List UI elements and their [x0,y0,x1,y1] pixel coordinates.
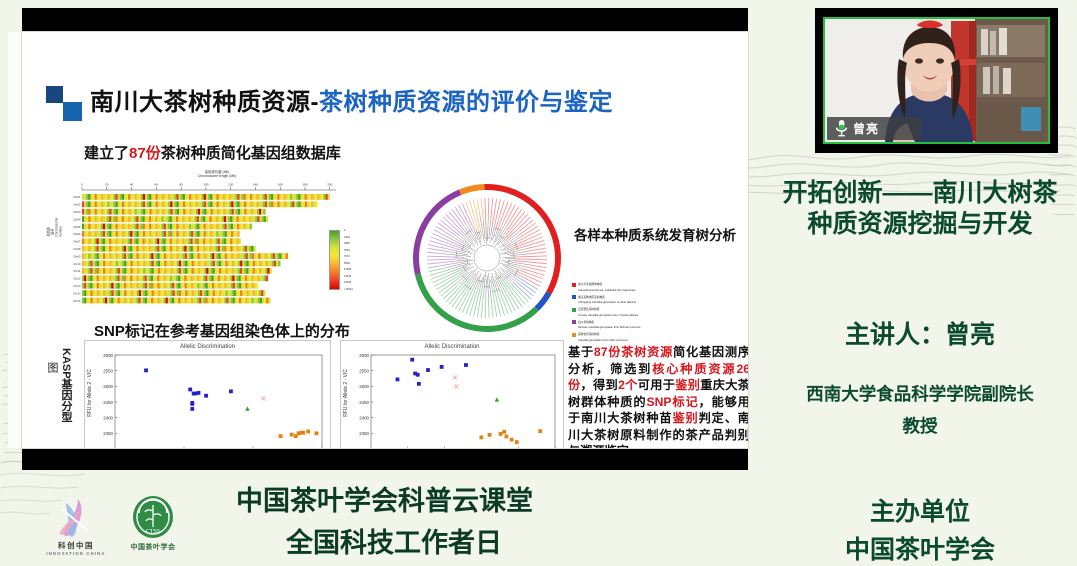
scatter1-ylabel: RFU for Allele 2 - VIC [87,369,93,417]
svg-text:2450: 2450 [359,400,369,405]
svg-text:60: 60 [155,183,159,187]
logo1-en: INNOVATION CHINA [38,551,114,556]
figure-label-en: KASP基因分型 [58,348,74,423]
svg-text:2450: 2450 [103,400,113,405]
svg-text:2500: 2500 [103,384,113,389]
presentation-slide[interactable]: 南川大茶树种质资源-茶树种质资源的评价与鉴定 建立了87份茶树种质简化基因组数据… [8,8,748,473]
event-title-line2: 全国科技工作者日 [286,521,502,560]
svg-text:Chr09: Chr09 [73,254,81,258]
tree-legend-swatch [572,320,576,324]
video-tile[interactable]: 曾亮 [815,8,1058,153]
snp-distribution-caption: SNP标记在参考基因组染色体上的分布 [94,320,350,341]
svg-text:Chr13: Chr13 [73,284,81,288]
svg-text:Chr11: Chr11 [73,269,81,273]
allelic-discrimination-plot-1: Allelic Discrimination RFU for Allele 2 … [84,340,331,448]
ctss-logo: CTSS 中国茶叶学会 [118,495,188,552]
svg-text:2350: 2350 [359,431,369,436]
svg-text:2550: 2550 [359,368,369,373]
svg-text:2600: 2600 [359,353,369,358]
subhead-suffix: 茶树种质简化基因组数据库 [161,145,341,162]
svg-text:Chr08: Chr08 [73,247,81,251]
talk-title: 开拓创新——南川大树茶种质资源挖掘与开发 [772,178,1068,240]
slide-letterbox-top [22,8,748,32]
svg-text:2300: 2300 [103,447,113,448]
svg-text:80: 80 [179,183,183,187]
title-bullet-square-dark [46,86,63,103]
speaker-affiliation: 西南大学食品科学学院副院长 教授 [772,378,1068,442]
affiliation-line2: 教授 [903,416,938,436]
chromosome-density-heatmap: 染色体长度 (Mb)Chromosome length (Mb) 染色体编号Ch… [52,172,342,320]
svg-text:2400: 2400 [103,415,113,420]
tree-legend-item: 重庆其他地区茶树种质Chongqing Camellia germplasm o… [572,295,692,306]
svg-text:40: 40 [130,183,134,187]
slide-body-text: 基于87份茶树资源简化基因测序分析，筛选到核心种质资源26份，得到2个可用于鉴别… [568,344,748,448]
svg-text:Chr12: Chr12 [73,277,81,281]
logo2-cn: 中国茶叶学会 [118,542,188,552]
svg-text:2550: 2550 [103,368,113,373]
svg-text:200: 200 [327,183,332,187]
heatmap-x-axis-title: 染色体长度 (Mb)Chromosome length (Mb) [142,170,292,179]
event-banner: 中国茶叶学会科普云课堂 全国科技工作者日 科创中国 INNOVATION CHI… [0,475,752,565]
svg-text:20: 20 [105,183,109,187]
tree-legend-swatch [572,333,576,337]
circular-phylogenetic-tree [407,178,567,338]
title-bullet-square-light [63,102,82,121]
svg-text:2350: 2350 [103,431,113,436]
allelic-discrimination-plot-2: Allelic Discrimination RFU for Allele 2 … [340,340,564,448]
svg-text:Chr14: Chr14 [73,291,81,295]
svg-text:140: 140 [253,183,258,187]
phylo-tree-legend: 南川大茶树群体种质Camellia sinensis var. pubilimb… [572,282,692,345]
tree-legend-label: 云南野生茶树种质Yunnan Camellia germplasm from Y… [578,307,638,318]
microphone-icon [835,119,848,138]
tree-legend-swatch [572,308,576,312]
svg-text:160: 160 [278,183,283,187]
tree-legend-item: 南川大茶树群体种质Camellia sinensis var. pubilimb… [572,282,692,293]
slide-left-strip [8,32,22,448]
svg-text:Chr15: Chr15 [73,299,81,303]
tree-legend-item: 四川茶树种质Sichuan Camellia germplasm from Si… [572,320,692,331]
svg-text:2400: 2400 [359,415,369,420]
svg-text:2500: 2500 [359,384,369,389]
tree-legend-label: 重庆其他地区茶树种质Chongqing Camellia germplasm o… [578,295,636,306]
subhead-prefix: 建立了 [84,145,129,162]
scatter1-title: Allelic Discrimination [85,344,330,350]
heatmap-colorbar-labels: 019183836575476729590115081342615344>153… [344,228,364,293]
svg-text:Chr07: Chr07 [73,240,81,244]
svg-text:120: 120 [228,183,233,187]
svg-text:Chr01: Chr01 [73,195,81,199]
participant-name-pill: 曾亮 [827,117,921,140]
speaker-name: 主讲人：曾亮 [772,315,1068,351]
tree-legend-label: 其他省份茶树种质Camellia germplasm from other pr… [578,332,628,343]
svg-text:2300: 2300 [359,447,369,448]
tree-legend-item: 云南野生茶树种质Yunnan Camellia germplasm from Y… [572,307,692,318]
scatter2-ylabel: RFU for Allele 2 - VIC [343,369,349,417]
tree-legend-swatch [572,295,576,299]
logo1-cn: 科创中国 [38,540,114,551]
svg-text:Chr06: Chr06 [73,232,81,236]
affiliation-line1: 西南大学食品科学学院副院长 [806,384,1034,404]
organizer-name: 中国茶叶学会 [772,530,1068,566]
heatmap-y-axis-title: 染色体编号Chromosome number [47,227,62,237]
video-stream[interactable]: 曾亮 [823,17,1050,144]
innovation-china-logo: 科创中国 INNOVATION CHINA [38,497,114,556]
svg-text:180: 180 [303,183,308,187]
slide-canvas: 南川大茶树种质资源-茶树种质资源的评价与鉴定 建立了87份茶树种质简化基因组数据… [22,32,748,448]
heatmap-colorbar [329,230,340,290]
svg-text:CTSS: CTSS [146,529,160,535]
slide-letterbox-bottom [22,448,748,470]
subhead-highlight: 87份 [129,145,161,162]
svg-text:Chr04: Chr04 [73,217,81,221]
organizer-label: 主办单位 [772,492,1068,528]
tree-legend-label: 四川茶树种质Sichuan Camellia germplasm from Si… [578,320,640,331]
svg-text:Chr02: Chr02 [73,203,81,207]
slide-title: 南川大茶树种质资源-茶树种质资源的评价与鉴定 [90,82,613,117]
participant-name: 曾亮 [853,120,879,137]
slide-title-accent: 茶树种质资源的评价与鉴定 [319,89,613,116]
event-title-line1: 中国茶叶学会科普云课堂 [236,479,533,518]
svg-text:100: 100 [203,183,208,187]
svg-text:0: 0 [81,183,83,187]
tree-legend-label: 南川大茶树群体种质Camellia sinensis var. pubilimb… [578,282,635,293]
tree-legend-swatch [572,283,576,287]
svg-text:Chr03: Chr03 [73,210,81,214]
svg-text:Chr10: Chr10 [73,262,81,266]
slide-title-main: 南川大茶树种质资源- [90,89,319,116]
svg-text:2600: 2600 [103,353,113,358]
phylo-tree-caption: 各样本种质系统发育树分析 [574,224,736,244]
figure-label: 图 KASP基因分型 [44,344,78,448]
slide-subheading: 建立了87份茶树种质简化基因组数据库 [84,142,341,163]
svg-text:Chr05: Chr05 [73,225,81,229]
heatmap-canvas: 020406080100120140160180200Chr01Chr02Chr… [52,172,342,320]
tree-legend-item: 其他省份茶树种质Camellia germplasm from other pr… [572,332,692,343]
scatter2-title: Allelic Discrimination [341,344,563,350]
